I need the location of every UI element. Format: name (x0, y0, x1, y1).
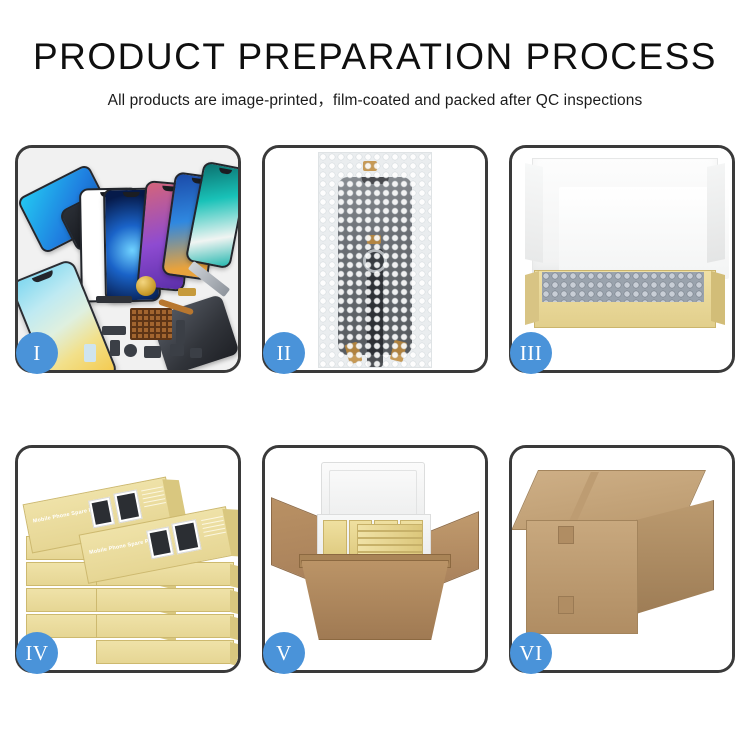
box-lid (532, 158, 718, 276)
page-title: PRODUCT PREPARATION PROCESS (0, 38, 750, 77)
product-window (146, 526, 174, 559)
spare-part-icon (190, 348, 202, 358)
spec-lines (141, 486, 166, 510)
step-badge-3: III (510, 332, 552, 374)
product-preparation-page: PRODUCT PREPARATION PROCESS All products… (0, 0, 750, 750)
retail-box (96, 614, 234, 638)
step-badge-5: V (263, 632, 305, 674)
spare-part-icon (176, 320, 185, 344)
step-panel-2: II (262, 145, 488, 373)
retail-box-stack: Mobile Phone Spare Parts Mobile Phone Sp… (24, 464, 238, 662)
product-window (88, 497, 115, 529)
spec-lines (201, 516, 226, 540)
foam-sheet (559, 187, 729, 279)
spare-part-icon (84, 344, 96, 362)
carton-side-face (636, 500, 714, 614)
carton-front-face (526, 520, 638, 634)
bubble-bag (318, 152, 432, 368)
spare-part-icon (102, 326, 126, 335)
circuit-board-icon (130, 308, 172, 340)
bubble-wrap-contents (542, 272, 704, 302)
step-panel-1: I (15, 145, 241, 373)
product-window (113, 489, 142, 523)
step-badge-6: VI (510, 632, 552, 674)
spare-part-icon (144, 346, 161, 358)
retail-box (96, 640, 234, 664)
step-panel-4: Mobile Phone Spare Parts Mobile Phone Sp… (15, 445, 241, 673)
spare-part-icon (110, 340, 120, 356)
product-window (171, 519, 201, 554)
step-badge-2: II (263, 332, 305, 374)
carton-tab (558, 596, 574, 614)
process-steps-grid: I II (15, 145, 735, 673)
step-panel-5: V (262, 445, 488, 673)
step-badge-4: IV (16, 632, 58, 674)
retail-box (96, 588, 234, 612)
page-subtitle: All products are image-printed，film-coat… (0, 88, 750, 110)
spare-part-icon (124, 344, 137, 357)
spare-part-icon (170, 344, 184, 356)
page-header: PRODUCT PREPARATION PROCESS All products… (0, 0, 750, 110)
bubble-wrap-texture (319, 153, 431, 367)
spare-part-icon (178, 288, 196, 296)
step-panel-6: VI (509, 445, 735, 673)
step-panel-3: III (509, 145, 735, 373)
speaker-part-icon (136, 276, 156, 296)
carton-body (301, 560, 449, 640)
part-bar-icon (96, 296, 132, 303)
carton-tab (558, 526, 574, 544)
step-badge-1: I (16, 332, 58, 374)
